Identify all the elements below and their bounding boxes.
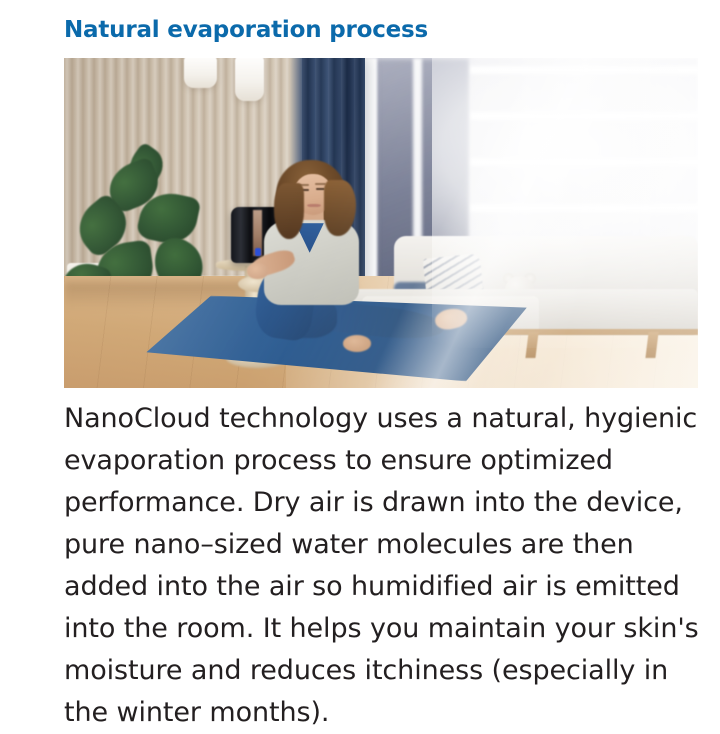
body-paragraph: NanoCloud technology uses a natural, hyg… — [64, 398, 704, 734]
product-feature-page: Natural evaporation process — [0, 0, 720, 720]
pendant-lamp-left — [184, 58, 217, 88]
photo-scene — [64, 58, 698, 388]
pendant-lamp-right — [235, 58, 264, 101]
feature-photo — [64, 58, 698, 388]
body-copy: NanoCloud technology uses a natural, hyg… — [64, 398, 704, 734]
woman-foot — [343, 335, 372, 352]
page-title: Natural evaporation process — [64, 17, 428, 43]
woman-hair-strand — [274, 183, 303, 239]
woman-hand — [247, 263, 269, 280]
humidifier-indicator-icon — [255, 248, 261, 257]
